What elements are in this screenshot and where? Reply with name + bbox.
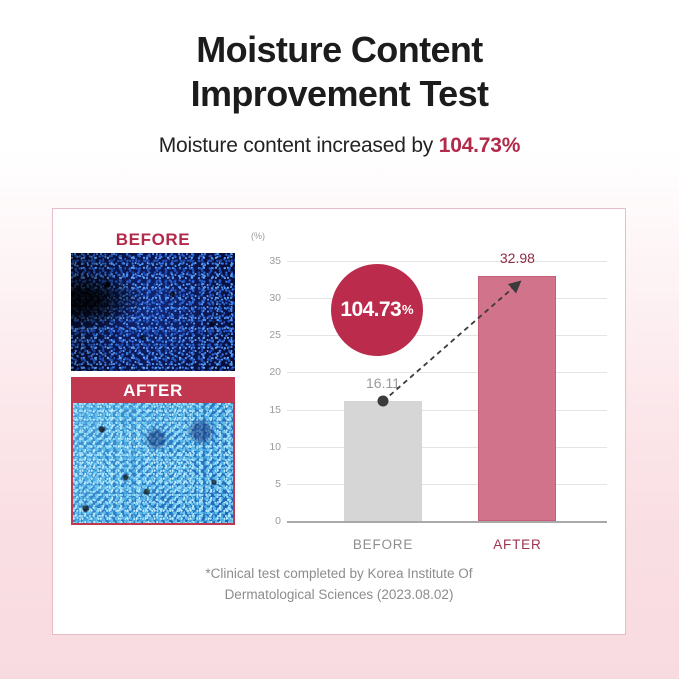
chart-plot-area: 3530252015105016.11BEFORE32.98AFTER104.7… (287, 261, 607, 521)
y-axis-tick-label: 25 (269, 329, 281, 341)
gridline (287, 410, 607, 411)
bar-value-before: 16.11 (366, 375, 400, 391)
gridline (287, 447, 607, 448)
y-axis-tick-label: 15 (269, 404, 281, 416)
result-card: BEFORE AFTER (%) 3530252015105016.11BEFO… (52, 208, 626, 635)
micrograph-after-block: AFTER (71, 377, 235, 525)
axis-baseline (287, 521, 607, 523)
gridline (287, 261, 607, 262)
subtitle-text: Moisture content increased by (159, 134, 439, 157)
before-data-point-marker (378, 396, 389, 407)
page-header: Moisture Content Improvement Test Moistu… (0, 0, 679, 158)
micrograph-before-image (71, 253, 235, 371)
gridline (287, 372, 607, 373)
bar-value-after: 32.98 (500, 250, 535, 266)
micrograph-after-image (73, 403, 233, 523)
gridline (287, 335, 607, 336)
y-axis-tick-label: 30 (269, 292, 281, 304)
x-axis-label-before: BEFORE (353, 537, 413, 552)
footnote: *Clinical test completed by Korea Instit… (53, 564, 625, 606)
footnote-line-2: Dermatological Sciences (2023.08.02) (53, 585, 625, 606)
micrograph-panel: BEFORE AFTER (71, 227, 235, 525)
y-axis-tick-label: 20 (269, 366, 281, 378)
y-axis-tick-label: 5 (275, 478, 281, 490)
gridline (287, 484, 607, 485)
y-axis-tick-label: 10 (269, 441, 281, 453)
bar-chart: (%) 3530252015105016.11BEFORE32.98AFTER1… (249, 227, 611, 557)
page-title-line-1: Moisture Content (0, 28, 679, 72)
improvement-badge: 104.73% (331, 264, 423, 356)
improvement-badge-unit: % (402, 302, 414, 317)
bar-before (344, 401, 422, 521)
improvement-badge-value: 104.73 (340, 298, 401, 322)
x-axis-label-after: AFTER (493, 537, 541, 552)
footnote-line-1: *Clinical test completed by Korea Instit… (53, 564, 625, 585)
micrograph-before-label: BEFORE (71, 227, 235, 253)
micrograph-before-block: BEFORE (71, 227, 235, 371)
subtitle-highlight-value: 104.73% (439, 134, 521, 157)
page-title-line-2: Improvement Test (0, 72, 679, 116)
y-axis-unit-label: (%) (251, 231, 265, 241)
y-axis-tick-label: 35 (269, 255, 281, 267)
page-subtitle: Moisture content increased by 104.73% (0, 134, 679, 158)
bar-after (478, 276, 556, 521)
micrograph-after-label: AFTER (73, 379, 233, 403)
y-axis-tick-label: 0 (275, 515, 281, 527)
